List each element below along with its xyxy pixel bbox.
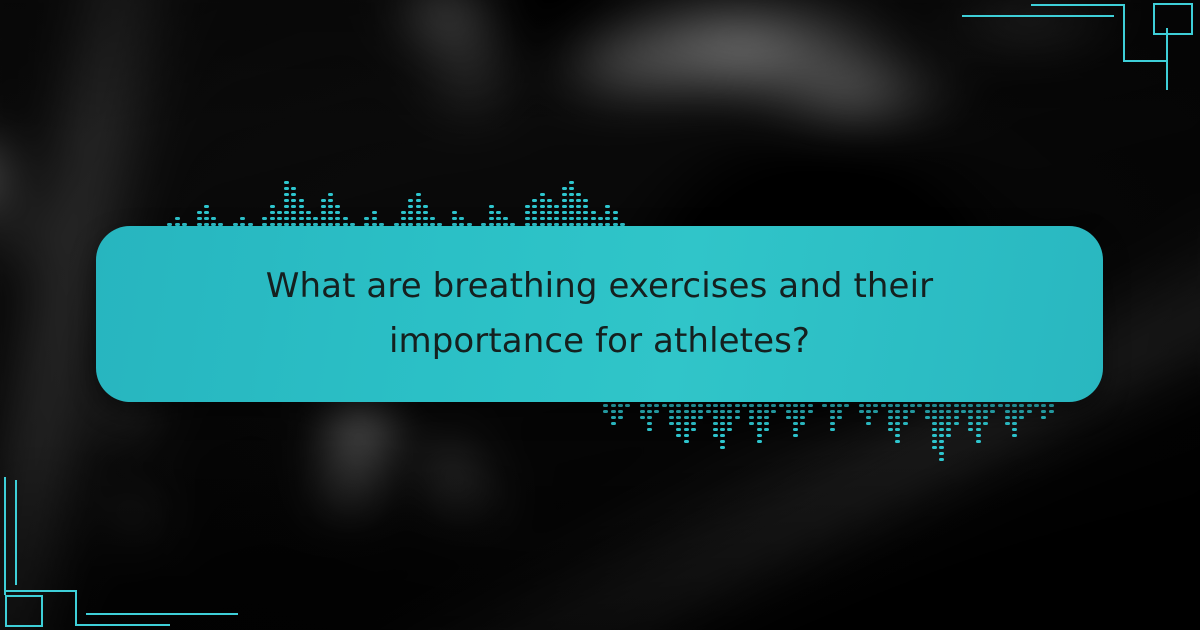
waveform-dot [569, 181, 574, 184]
waveform-dot [706, 404, 711, 407]
waveform-dot [618, 416, 623, 419]
waveform-dot [830, 428, 835, 431]
waveform-dot [554, 205, 559, 208]
waveform-dot [983, 410, 988, 413]
waveform-dot [291, 217, 296, 220]
waveform-dot [779, 404, 784, 407]
waveform-dot [742, 404, 747, 407]
waveform-dot [1005, 416, 1010, 419]
waveform-dot [757, 404, 762, 407]
waveform-dot [603, 410, 608, 413]
waveform-dot [299, 211, 304, 214]
waveform-dot [998, 404, 1003, 407]
waveform-dot [939, 428, 944, 431]
waveform-dot [569, 205, 574, 208]
waveform-dot [684, 428, 689, 431]
waveform-dot [625, 404, 630, 407]
waveform-dot [727, 416, 732, 419]
waveform-dot [540, 205, 545, 208]
waveform-dot [583, 205, 588, 208]
waveform-dot [954, 404, 959, 407]
waveform-dot [676, 434, 681, 437]
waveform-dot [939, 446, 944, 449]
waveform-dot [569, 211, 574, 214]
waveform-dot [676, 416, 681, 419]
bracket-line [962, 15, 1114, 17]
waveform-dot [684, 422, 689, 425]
waveform-dot [727, 404, 732, 407]
waveform-bottom [596, 398, 1066, 478]
waveform-dot [684, 416, 689, 419]
waveform-dot [532, 199, 537, 202]
waveform-dot [954, 422, 959, 425]
waveform-dot [328, 193, 333, 196]
waveform-dot [284, 187, 289, 190]
bracket-line [4, 477, 6, 595]
waveform-dot [946, 416, 951, 419]
waveform-dot [1012, 404, 1017, 407]
waveform-dot [735, 404, 740, 407]
waveform-dot [291, 193, 296, 196]
waveform-dot [408, 205, 413, 208]
waveform-dot [691, 428, 696, 431]
waveform-dot [764, 416, 769, 419]
waveform-dot [401, 217, 406, 220]
waveform-dot [328, 217, 333, 220]
waveform-dot [932, 410, 937, 413]
waveform-dot [416, 211, 421, 214]
waveform-dot [873, 404, 878, 407]
waveform-dot [321, 199, 326, 202]
waveform-dot [713, 416, 718, 419]
waveform-dot [837, 410, 842, 413]
waveform-dot [416, 193, 421, 196]
waveform-dot [691, 416, 696, 419]
waveform-dot [1012, 434, 1017, 437]
waveform-dot [204, 211, 209, 214]
waveform-dot [888, 410, 893, 413]
waveform-dot [800, 416, 805, 419]
waveform-dot [757, 434, 762, 437]
waveform-dot [925, 410, 930, 413]
waveform-dot [321, 211, 326, 214]
waveform-dot [706, 410, 711, 413]
waveform-dot [569, 193, 574, 196]
waveform-dot [328, 211, 333, 214]
waveform-dot [1019, 404, 1024, 407]
waveform-dot [647, 416, 652, 419]
waveform-dot [669, 404, 674, 407]
waveform-dot [576, 205, 581, 208]
waveform-dot [830, 404, 835, 407]
waveform-dot [720, 434, 725, 437]
waveform-dot [757, 428, 762, 431]
waveform-dot [408, 199, 413, 202]
waveform-dot [299, 199, 304, 202]
waveform-dot [1049, 410, 1054, 413]
waveform-dot [983, 422, 988, 425]
waveform-dot [786, 404, 791, 407]
waveform-dot [932, 434, 937, 437]
waveform-dot [976, 416, 981, 419]
waveform-dot [946, 428, 951, 431]
waveform-dot [764, 404, 769, 407]
waveform-dot [452, 217, 457, 220]
waveform-dot [364, 217, 369, 220]
waveform-dot [569, 187, 574, 190]
waveform-dot [489, 205, 494, 208]
waveform-dot [968, 428, 973, 431]
waveform-dot [423, 211, 428, 214]
waveform-dot [720, 416, 725, 419]
waveform-dot [954, 416, 959, 419]
waveform-dot [401, 211, 406, 214]
waveform-dot [684, 440, 689, 443]
waveform-dot [873, 410, 878, 413]
waveform-dot [562, 211, 567, 214]
waveform-dot [786, 410, 791, 413]
waveform-dot [808, 404, 813, 407]
question-card: What are breathing exercises and their i… [96, 226, 1103, 402]
waveform-dot [983, 404, 988, 407]
bracket-square-icon [1153, 3, 1193, 35]
waveform-dot [691, 404, 696, 407]
bracket-line [86, 613, 238, 615]
waveform-dot [749, 422, 754, 425]
waveform-dot [895, 416, 900, 419]
waveform-dot [662, 404, 667, 407]
waveform-dot [576, 199, 581, 202]
waveform-dot [611, 404, 616, 407]
waveform-dot [306, 217, 311, 220]
waveform-dot [939, 410, 944, 413]
waveform-dot [800, 410, 805, 413]
waveform-dot [764, 410, 769, 413]
waveform-dot [727, 422, 732, 425]
waveform-dot [343, 217, 348, 220]
waveform-dot [771, 404, 776, 407]
waveform-dot [613, 217, 618, 220]
waveform-dot [866, 410, 871, 413]
waveform-dot [676, 428, 681, 431]
waveform-dot [669, 416, 674, 419]
waveform-top [160, 156, 630, 232]
waveform-dot [925, 416, 930, 419]
waveform-dot [910, 410, 915, 413]
waveform-dot [489, 217, 494, 220]
waveform-dot [691, 422, 696, 425]
waveform-dot [684, 404, 689, 407]
waveform-dot [932, 440, 937, 443]
waveform-dot [713, 434, 718, 437]
waveform-dot [939, 452, 944, 455]
waveform-dot [640, 416, 645, 419]
waveform-dot [866, 404, 871, 407]
waveform-dot [540, 199, 545, 202]
waveform-dot [321, 217, 326, 220]
waveform-dot [277, 217, 282, 220]
waveform-dot [562, 199, 567, 202]
waveform-dot [976, 422, 981, 425]
waveform-dot [1012, 416, 1017, 419]
waveform-dot [1027, 410, 1032, 413]
waveform-dot [720, 404, 725, 407]
waveform-dot [713, 410, 718, 413]
waveform-dot [423, 217, 428, 220]
waveform-dot [800, 404, 805, 407]
waveform-dot [757, 416, 762, 419]
waveform-dot [903, 404, 908, 407]
waveform-dot [547, 205, 552, 208]
corner-bracket-top-right-icon [1030, 0, 1200, 90]
waveform-dot [1034, 404, 1039, 407]
waveform-dot [946, 410, 951, 413]
waveform-dot [720, 440, 725, 443]
waveform-dot [1041, 416, 1046, 419]
waveform-dot [720, 428, 725, 431]
waveform-dot [939, 434, 944, 437]
waveform-dot [532, 217, 537, 220]
waveform-dot [335, 217, 340, 220]
waveform-dot [684, 434, 689, 437]
waveform-dot [837, 404, 842, 407]
waveform-dot [430, 217, 435, 220]
waveform-dot [459, 217, 464, 220]
waveform-dot [1005, 404, 1010, 407]
waveform-dot [932, 404, 937, 407]
waveform-dot [903, 416, 908, 419]
waveform-dot [525, 211, 530, 214]
waveform-dot [1012, 410, 1017, 413]
waveform-dot [946, 404, 951, 407]
waveform-dot [496, 211, 501, 214]
waveform-dot [496, 217, 501, 220]
waveform-dot [895, 422, 900, 425]
waveform-dot [540, 211, 545, 214]
waveform-dot [284, 181, 289, 184]
waveform-dot [175, 217, 180, 220]
waveform-dot [735, 410, 740, 413]
waveform-dot [895, 434, 900, 437]
waveform-dot [837, 416, 842, 419]
waveform-dot [793, 410, 798, 413]
waveform-dot [618, 410, 623, 413]
waveform-dot [540, 193, 545, 196]
waveform-dot [976, 410, 981, 413]
waveform-dot [903, 422, 908, 425]
waveform-dot [277, 211, 282, 214]
waveform-dot [932, 416, 937, 419]
bracket-square-icon [5, 595, 43, 627]
waveform-dot [654, 410, 659, 413]
waveform-dot [408, 217, 413, 220]
bracket-line [75, 624, 170, 626]
waveform-dot [925, 404, 930, 407]
waveform-dot [976, 440, 981, 443]
waveform-dot [793, 404, 798, 407]
waveform-dot [910, 404, 915, 407]
waveform-dot [204, 205, 209, 208]
waveform-dot [647, 428, 652, 431]
waveform-dot [372, 217, 377, 220]
waveform-dot [270, 217, 275, 220]
waveform-dot [547, 211, 552, 214]
waveform-dot [939, 458, 944, 461]
waveform-dot [306, 211, 311, 214]
waveform-dot [647, 410, 652, 413]
waveform-dot [1027, 404, 1032, 407]
waveform-dot [946, 434, 951, 437]
waveform-dot [562, 187, 567, 190]
waveform-dot [328, 205, 333, 208]
waveform-dot [932, 422, 937, 425]
waveform-dot [576, 193, 581, 196]
waveform-dot [917, 404, 922, 407]
waveform-dot [800, 422, 805, 425]
waveform-dot [757, 422, 762, 425]
waveform-dot [720, 422, 725, 425]
waveform-dot [932, 428, 937, 431]
waveform-dot [698, 410, 703, 413]
waveform-dot [583, 199, 588, 202]
waveform-dot [554, 217, 559, 220]
waveform-dot [713, 428, 718, 431]
bracket-line [4, 590, 77, 592]
waveform-dot [793, 434, 798, 437]
waveform-dot [727, 410, 732, 413]
waveform-dot [569, 199, 574, 202]
waveform-dot [720, 410, 725, 413]
waveform-dot [888, 422, 893, 425]
waveform-dot [562, 205, 567, 208]
waveform-dot [669, 410, 674, 413]
waveform-dot [284, 217, 289, 220]
waveform-dot [713, 404, 718, 407]
waveform-dot [611, 422, 616, 425]
waveform-dot [859, 410, 864, 413]
waveform-dot [676, 410, 681, 413]
waveform-dot [299, 217, 304, 220]
waveform-dot [976, 428, 981, 431]
waveform-dot [583, 217, 588, 220]
waveform-dot [757, 440, 762, 443]
waveform-dot [284, 205, 289, 208]
waveform-dot [859, 404, 864, 407]
waveform-dot [525, 217, 530, 220]
waveform-dot [647, 404, 652, 407]
waveform-dot [284, 193, 289, 196]
waveform-dot [866, 422, 871, 425]
waveform-dot [881, 404, 886, 407]
waveform-dot [583, 211, 588, 214]
question-text: What are breathing exercises and their i… [250, 259, 950, 369]
waveform-dot [866, 416, 871, 419]
waveform-dot [895, 440, 900, 443]
waveform-dot [669, 422, 674, 425]
waveform-dot [793, 422, 798, 425]
waveform-dot [618, 404, 623, 407]
waveform-dot [990, 410, 995, 413]
waveform-dot [328, 199, 333, 202]
waveform-dot [240, 217, 245, 220]
bracket-line [75, 590, 77, 626]
waveform-dot [1041, 404, 1046, 407]
waveform-dot [313, 217, 318, 220]
waveform-dot [270, 205, 275, 208]
waveform-dot [503, 217, 508, 220]
waveform-dot [640, 404, 645, 407]
waveform-dot [562, 217, 567, 220]
waveform-dot [830, 416, 835, 419]
waveform-dot [1005, 410, 1010, 413]
waveform-dot [291, 199, 296, 202]
waveform-dot [554, 211, 559, 214]
waveform-dot [291, 211, 296, 214]
waveform-dot [727, 428, 732, 431]
waveform-dot [749, 404, 754, 407]
waveform-dot [976, 404, 981, 407]
waveform-dot [983, 416, 988, 419]
waveform-dot [968, 404, 973, 407]
waveform-dot [647, 422, 652, 425]
waveform-dot [691, 410, 696, 413]
waveform-dot [895, 404, 900, 407]
waveform-dot [291, 187, 296, 190]
bracket-line [1123, 60, 1168, 62]
waveform-dot [808, 410, 813, 413]
waveform-dot [1012, 428, 1017, 431]
waveform-dot [416, 205, 421, 208]
waveform-dot [895, 428, 900, 431]
waveform-dot [525, 205, 530, 208]
waveform-dot [954, 410, 959, 413]
bracket-line [1031, 4, 1125, 6]
waveform-dot [416, 217, 421, 220]
waveform-dot [720, 446, 725, 449]
waveform-dot [489, 211, 494, 214]
waveform-dot [961, 410, 966, 413]
waveform-dot [771, 410, 776, 413]
waveform-dot [713, 422, 718, 425]
waveform-dot [961, 404, 966, 407]
waveform-dot [576, 211, 581, 214]
waveform-dot [1019, 410, 1024, 413]
waveform-dot [1012, 422, 1017, 425]
waveform-dot [547, 217, 552, 220]
waveform-dot [204, 217, 209, 220]
waveform-dot [764, 422, 769, 425]
corner-bracket-bottom-left-icon [0, 450, 170, 630]
waveform-dot [888, 416, 893, 419]
waveform-dot [895, 410, 900, 413]
waveform-dot [749, 410, 754, 413]
waveform-dot [613, 211, 618, 214]
waveform-dot [605, 211, 610, 214]
waveform-dot [284, 199, 289, 202]
waveform-dot [698, 404, 703, 407]
waveform-dot [532, 205, 537, 208]
waveform-dot [591, 217, 596, 220]
waveform-dot [576, 217, 581, 220]
waveform-dot [408, 211, 413, 214]
bracket-line [15, 480, 17, 585]
waveform-dot [321, 205, 326, 208]
waveform-dot [547, 199, 552, 202]
waveform-dot [1041, 410, 1046, 413]
waveform-dot [591, 211, 596, 214]
waveform-dot [423, 205, 428, 208]
waveform-dot [299, 205, 304, 208]
